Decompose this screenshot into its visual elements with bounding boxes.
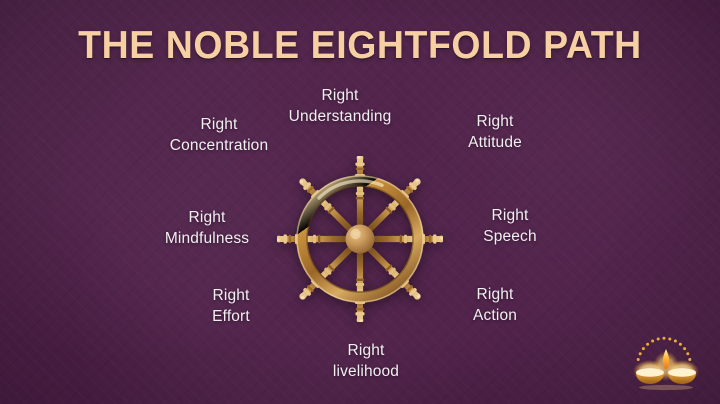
left-lamp-icon bbox=[633, 360, 667, 384]
logo-reflection bbox=[639, 385, 693, 390]
slide-canvas: THE NOBLE EIGHTFOLD PATH Right Understan… bbox=[0, 0, 720, 404]
path-label-right-concentration: Right Concentration bbox=[134, 115, 304, 156]
path-label-right-speech: Right Speech bbox=[425, 206, 595, 247]
path-label-right-livelihood: Right livelihood bbox=[281, 341, 451, 382]
foundation-logo bbox=[624, 316, 708, 394]
path-label-right-mindfulness: Right Mindfulness bbox=[122, 208, 292, 249]
ships-wheel-graphic bbox=[277, 156, 443, 322]
path-label-right-attitude: Right Attitude bbox=[410, 112, 580, 153]
wheel-hub bbox=[346, 225, 375, 254]
page-title: THE NOBLE EIGHTFOLD PATH bbox=[14, 24, 705, 68]
right-lamp-icon bbox=[665, 360, 699, 384]
oil-lamps-logo-icon bbox=[624, 316, 708, 394]
ships-wheel-icon bbox=[277, 156, 443, 322]
